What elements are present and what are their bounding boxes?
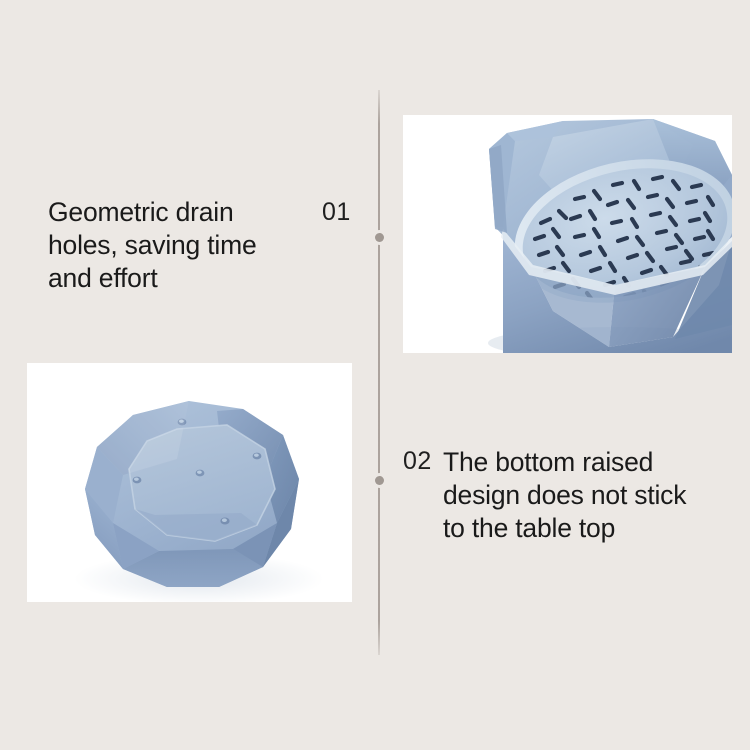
photo-stage-colander — [403, 115, 732, 353]
foot-top — [196, 470, 205, 477]
feature-2-photo-panel — [27, 363, 352, 602]
colander-with-drain-holes-illustration — [403, 115, 732, 353]
foot-bottom — [220, 518, 229, 525]
feature-1-photo-panel — [403, 115, 732, 353]
infographic-page: Geometric drain holes, saving time and e… — [0, 0, 750, 750]
feature-1-number: 01 — [322, 198, 351, 226]
foot-left — [133, 477, 142, 484]
divider-dot-marker-2 — [375, 476, 384, 485]
photo-stage-bowl-underside — [27, 363, 352, 602]
feature-2-description: The bottom raised design does not stick … — [443, 446, 733, 545]
foot-right — [253, 453, 262, 460]
feature-1-description: Geometric drain holes, saving time and e… — [48, 196, 323, 295]
divider-dot-marker-1 — [375, 233, 384, 242]
feature-2-number: 02 — [403, 447, 432, 475]
vertical-divider-line — [378, 90, 380, 655]
bowl-underside-raised-feet-illustration — [27, 363, 352, 602]
